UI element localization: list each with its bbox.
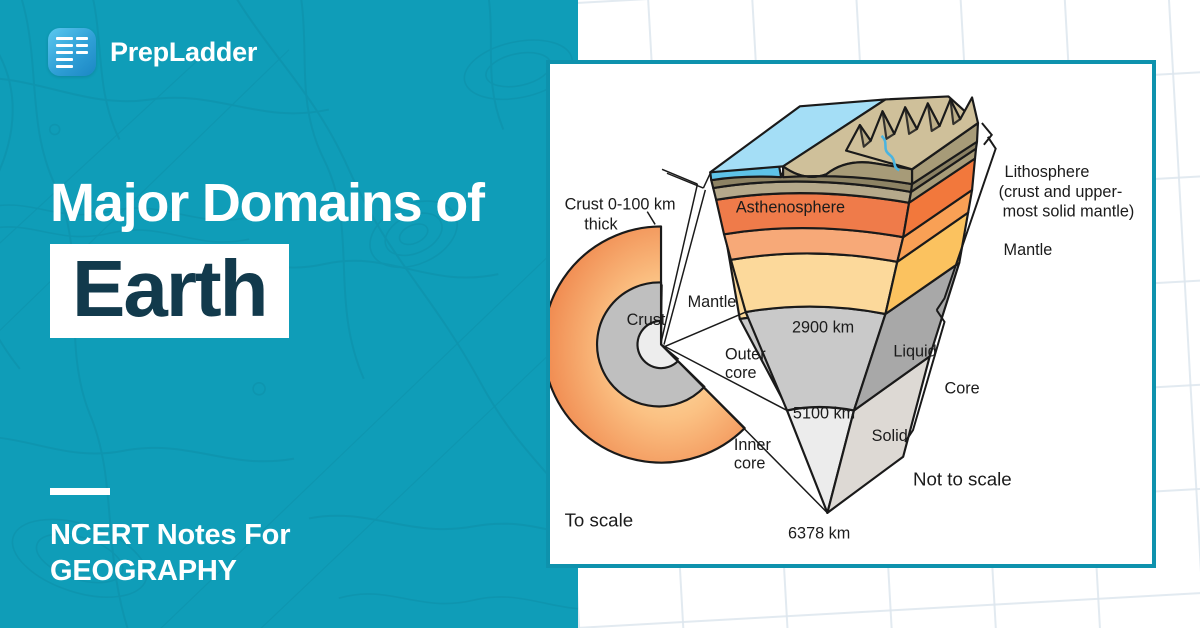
label-lithosphere-line3: most solid mantle) bbox=[1003, 203, 1135, 221]
label-crust-thickness-line1: Crust 0-100 km bbox=[565, 196, 676, 214]
headline-line-1: Major Domains of bbox=[50, 176, 570, 230]
footer-line-2: GEOGRAPHY bbox=[50, 553, 290, 589]
label-outer-core-line2: core bbox=[725, 364, 757, 382]
left-teal-panel: PrepLadder Major Domains of Earth NCERT … bbox=[0, 0, 578, 628]
label-depth-5100: 5100 km bbox=[793, 404, 855, 422]
label-inner-core-line1: Inner bbox=[734, 436, 772, 454]
earth-structure-diagram-card: Crust 0-100 km thick Asthenosphere Litho… bbox=[546, 60, 1156, 568]
label-depth-2900: 2900 km bbox=[792, 319, 854, 337]
label-asthenosphere: Asthenosphere bbox=[736, 199, 845, 217]
label-depth-6378: 6378 km bbox=[788, 524, 850, 542]
prepladder-p-logo-icon bbox=[48, 28, 96, 76]
headline-line-2: Earth bbox=[72, 249, 267, 329]
footer-rule-divider bbox=[50, 488, 110, 495]
label-mantle-left: Mantle bbox=[688, 293, 737, 311]
brand-logo[interactable]: PrepLadder bbox=[48, 28, 257, 76]
label-mantle-right: Mantle bbox=[1004, 241, 1053, 259]
poster-canvas: PrepLadder Major Domains of Earth NCERT … bbox=[0, 0, 1200, 628]
label-crust-thickness-line2: thick bbox=[584, 215, 618, 233]
label-inner-core-line2: core bbox=[734, 455, 766, 473]
label-lithosphere-line2: (crust and upper- bbox=[999, 183, 1123, 201]
footer-line-1: NCERT Notes For bbox=[50, 517, 290, 553]
brand-name: PrepLadder bbox=[110, 37, 257, 68]
label-to-scale: To scale bbox=[565, 510, 634, 531]
headline-block: Major Domains of Earth bbox=[50, 176, 570, 338]
label-not-to-scale: Not to scale bbox=[913, 468, 1012, 489]
label-crust-small: Crust bbox=[627, 311, 666, 329]
label-outer-core-line1: Outer bbox=[725, 345, 766, 363]
label-liquid: Liquid bbox=[893, 342, 936, 360]
to-scale-sector bbox=[550, 226, 745, 462]
earth-cross-section-illustration: Crust 0-100 km thick Asthenosphere Litho… bbox=[550, 64, 1152, 564]
headline-highlight-box: Earth bbox=[50, 244, 289, 338]
footer-block: NCERT Notes For GEOGRAPHY bbox=[50, 488, 290, 590]
label-solid: Solid bbox=[872, 427, 908, 445]
label-core: Core bbox=[945, 380, 980, 398]
label-lithosphere-line1: Lithosphere bbox=[1005, 163, 1090, 181]
